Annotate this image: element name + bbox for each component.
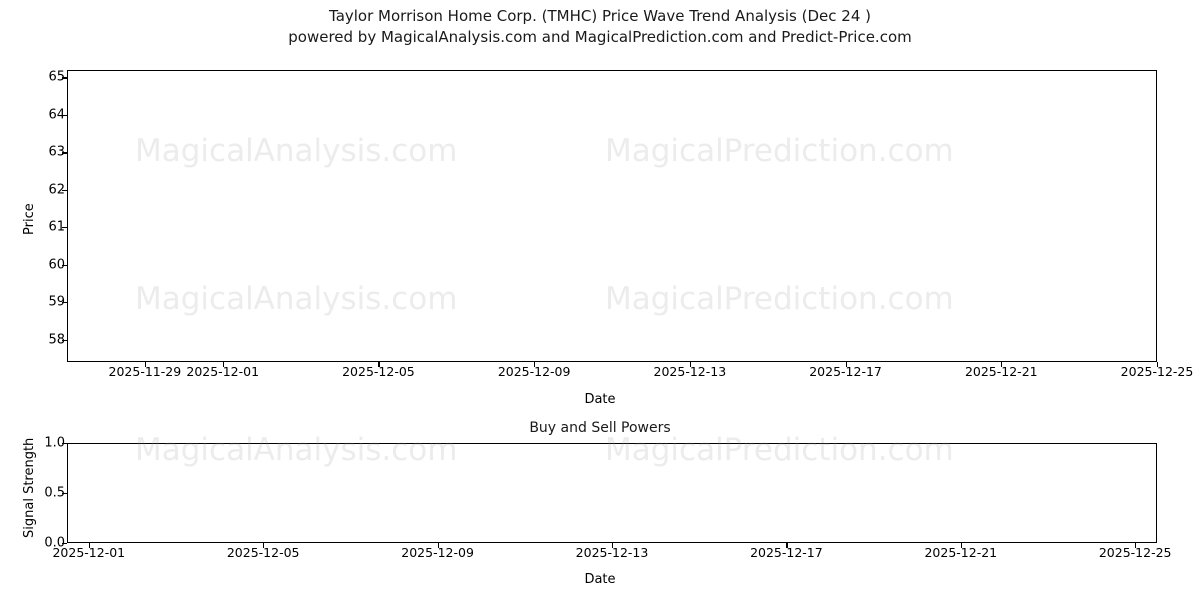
title-block: Taylor Morrison Home Corp. (TMHC) Price … xyxy=(0,6,1200,48)
price-y-tick-mark xyxy=(62,265,67,266)
signal-x-tick-mark xyxy=(1135,543,1136,548)
signal-y-axis-title: Signal Strength xyxy=(22,438,37,538)
signal-y-tick-mark xyxy=(62,493,67,494)
price-y-tick-mark xyxy=(62,302,67,303)
signal-chart-title: Buy and Sell Powers xyxy=(0,420,1200,436)
page-subtitle: powered by MagicalAnalysis.com and Magic… xyxy=(0,27,1200,48)
signal-x-axis-title: Date xyxy=(0,572,1200,587)
signal-x-tick-mark xyxy=(786,543,787,548)
page-title: Taylor Morrison Home Corp. (TMHC) Price … xyxy=(0,6,1200,27)
price-plot-frame xyxy=(67,70,1157,362)
price-x-tick-mark xyxy=(534,362,535,367)
price-y-axis-title: Price xyxy=(22,203,37,235)
price-x-tick-mark xyxy=(378,362,379,367)
signal-x-tick-mark xyxy=(263,543,264,548)
signal-plot-frame xyxy=(67,443,1157,543)
signal-chart-panel: 0.00.51.02025-12-012025-12-052025-12-092… xyxy=(67,443,1157,543)
price-y-tick-mark xyxy=(62,152,67,153)
signal-y-tick-mark xyxy=(62,543,67,544)
chart-page: Taylor Morrison Home Corp. (TMHC) Price … xyxy=(0,0,1200,600)
price-y-tick-mark xyxy=(62,227,67,228)
price-y-tick-mark xyxy=(62,190,67,191)
price-x-tick-mark xyxy=(846,362,847,367)
price-x-tick-mark xyxy=(145,362,146,367)
signal-x-tick-mark xyxy=(438,543,439,548)
price-y-tick-mark xyxy=(62,340,67,341)
price-x-tick-mark xyxy=(690,362,691,367)
signal-x-tick-mark xyxy=(612,543,613,548)
price-x-tick-mark xyxy=(223,362,224,367)
price-y-tick-mark xyxy=(62,77,67,78)
signal-y-tick-mark xyxy=(62,443,67,444)
price-x-tick-mark xyxy=(1001,362,1002,367)
price-chart-panel: 58596061626364652025-11-292025-12-012025… xyxy=(67,70,1157,362)
price-x-tick-mark xyxy=(1157,362,1158,367)
signal-x-tick-mark xyxy=(89,543,90,548)
price-x-axis-title: Date xyxy=(0,392,1200,407)
price-y-tick-mark xyxy=(62,115,67,116)
signal-x-tick-mark xyxy=(961,543,962,548)
